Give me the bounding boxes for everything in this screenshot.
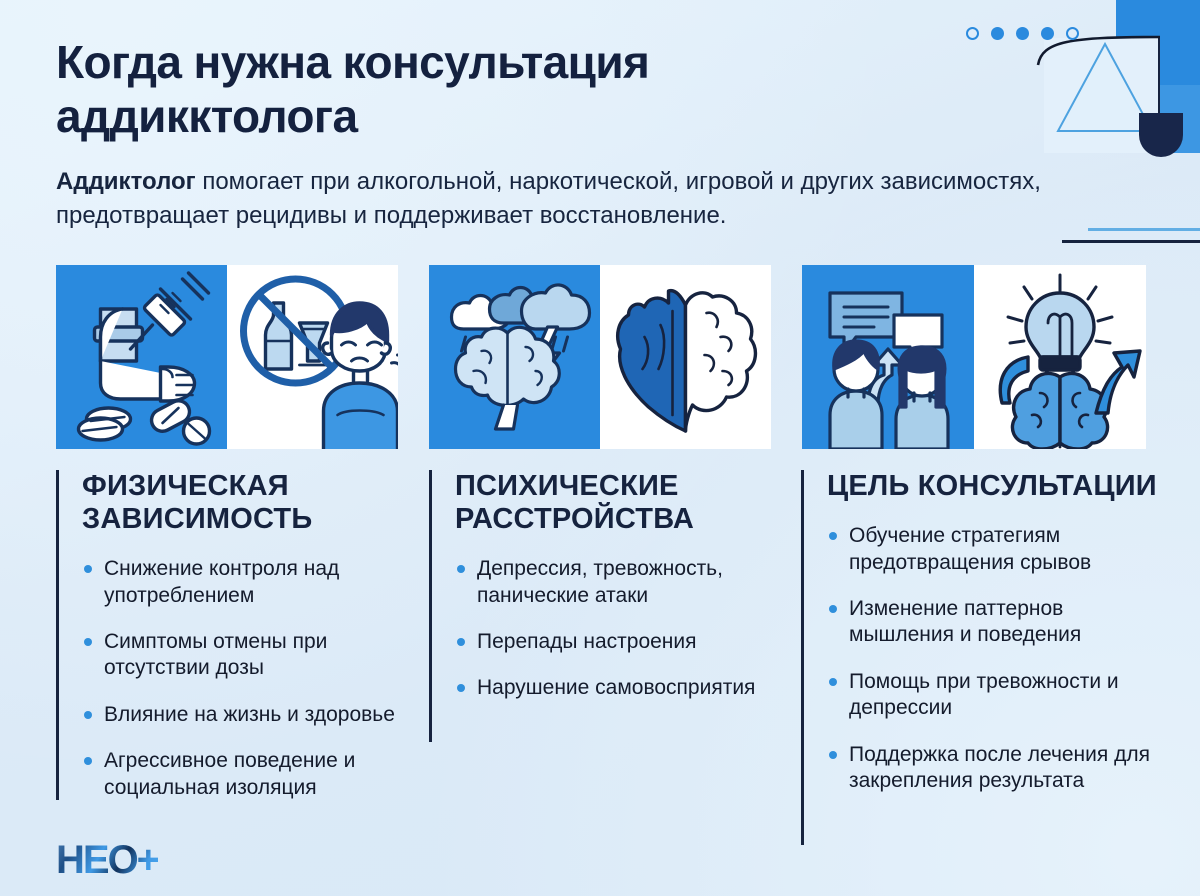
decor-dot-4 xyxy=(1041,27,1054,40)
decor-dot-3 xyxy=(1016,27,1029,40)
icon-group-mental xyxy=(429,265,771,449)
column-bullet-list: Обучение стратегиям предотвращения срыво… xyxy=(827,523,1161,795)
column-heading: ЦЕЛЬ КОНСУЛЬТАЦИИ xyxy=(827,470,1161,503)
column-bullet-list: Депрессия, тревожность, панические атаки… xyxy=(455,556,774,702)
icon-group-physical xyxy=(56,265,398,449)
column-heading: ФИЗИЧЕСКАЯ ЗАВИСИМОСТЬ xyxy=(82,470,411,536)
decor-rule-dark xyxy=(1062,240,1200,243)
icon-group-goal xyxy=(802,265,1146,449)
page-subtitle: Аддиктолог помогает при алкогольной, нар… xyxy=(56,165,1086,233)
people-dialogue-arrow-icon xyxy=(802,265,974,449)
list-item: Помощь при тревожности и депрессии xyxy=(827,669,1161,722)
subtitle-bold-term: Аддиктолог xyxy=(56,168,196,195)
decor-dot-row xyxy=(966,27,1079,40)
list-item: Перепады настроения xyxy=(455,629,774,655)
list-item: Симптомы отмены при отсутствии дозы xyxy=(82,629,411,682)
column-consultation-goal: ЦЕЛЬ КОНСУЛЬТАЦИИ Обучение стратегиям пр… xyxy=(801,470,1161,815)
storm-cloud-brain-icon xyxy=(429,265,600,449)
list-item: Поддержка после лечения для закрепления … xyxy=(827,742,1161,795)
decor-rule-light xyxy=(1088,228,1200,231)
arm-injection-pills-icon xyxy=(56,265,227,449)
no-alcohol-sad-person-icon xyxy=(227,265,398,449)
icon-panel-row xyxy=(56,265,1146,449)
list-item: Обучение стратегиям предотвращения срыво… xyxy=(827,523,1161,576)
column-bullet-list: Снижение контроля над употреблением Симп… xyxy=(82,556,411,801)
decor-dot-2 xyxy=(991,27,1004,40)
list-item: Нарушение самовосприятия xyxy=(455,675,774,701)
column-heading: ПСИХИЧЕСКИЕ РАССТРОЙСТВА xyxy=(455,470,774,536)
list-item: Изменение паттернов мышления и поведения xyxy=(827,596,1161,649)
list-item: Агрессивное поведение и социальная изоля… xyxy=(82,748,411,801)
decor-half-circle xyxy=(1139,113,1183,157)
decor-dot-5 xyxy=(1066,27,1079,40)
list-item: Снижение контроля над употреблением xyxy=(82,556,411,609)
page-title: Когда нужна консультация аддикктолога xyxy=(56,36,856,144)
list-item: Депрессия, тревожность, панические атаки xyxy=(455,556,774,609)
decor-dot-1 xyxy=(966,27,979,40)
column-physical-dependence: ФИЗИЧЕСКАЯ ЗАВИСИМОСТЬ Снижение контроля… xyxy=(56,470,411,821)
brand-logo: НЕО+ xyxy=(56,838,158,883)
heart-brain-icon xyxy=(600,265,771,449)
subtitle-rest: помогает при алкогольной, наркотической,… xyxy=(56,168,1041,229)
lightbulb-brain-arrows-icon xyxy=(974,265,1146,449)
column-mental-disorders: ПСИХИЧЕСКИЕ РАССТРОЙСТВА Депрессия, трев… xyxy=(429,470,774,722)
list-item: Влияние на жизнь и здоровье xyxy=(82,702,411,728)
